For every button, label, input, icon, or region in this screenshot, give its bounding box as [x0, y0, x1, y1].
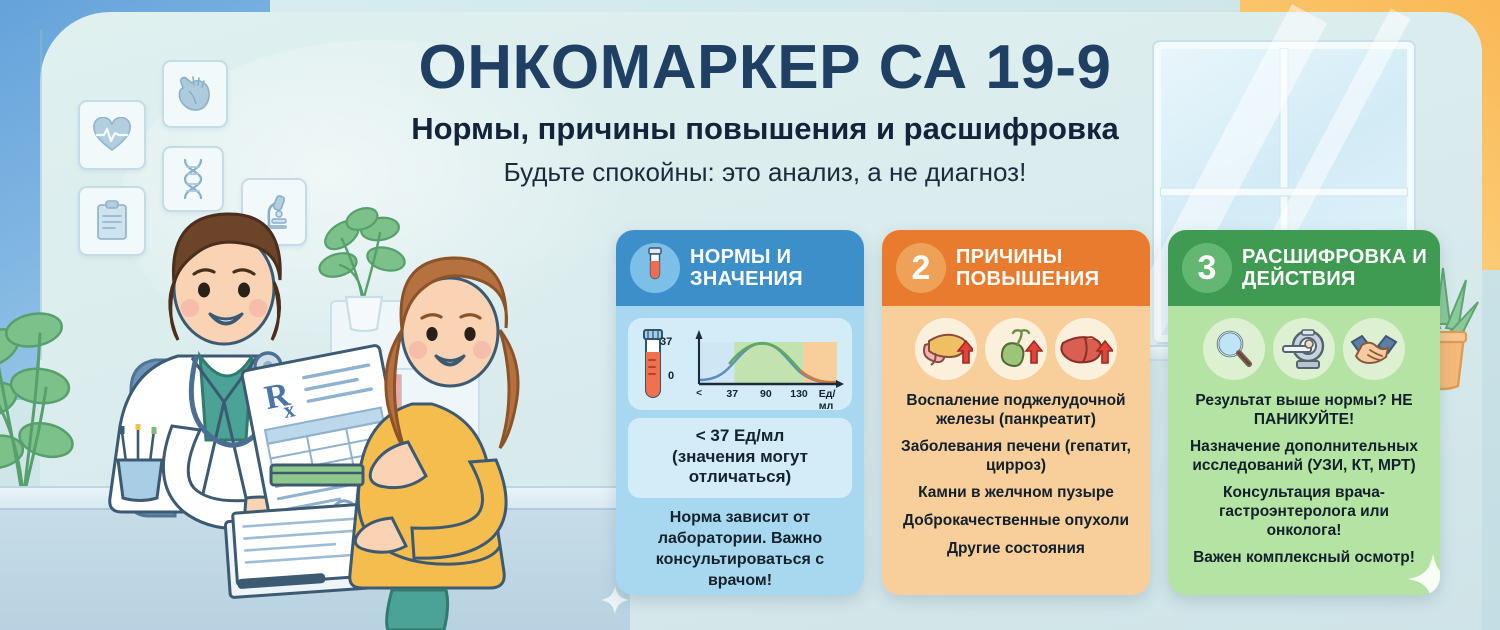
card-3-list: Результат выше нормы? НЕ ПАНИКУЙТЕ! Назн…: [1180, 392, 1428, 568]
chart-x-tick-130: 130: [790, 388, 808, 400]
test-tube-icon: [644, 247, 666, 290]
card-1-value-main: < 37 Ед/мл: [636, 426, 844, 447]
card-2-list: Воспаление поджелудочной железы (панкреа…: [894, 392, 1138, 558]
card-2-header: 2 ПРИЧИНЫ ПОВЫШЕНИЯ: [882, 230, 1150, 306]
chart-y-tick-37: 37: [660, 336, 672, 348]
norm-range-chart: 37 0 < 37 90 130 Ед/мл: [676, 328, 844, 402]
magnifier-icon: [1203, 318, 1265, 380]
card-2-title: ПРИЧИНЫ ПОВЫШЕНИЯ: [956, 246, 1138, 291]
pancreas-icon: [915, 318, 977, 380]
heartbeat-heart-icon: [92, 117, 132, 153]
ct-scanner-icon: [1273, 318, 1335, 380]
card-1-title: НОРМЫ И ЗНАЧЕНИЯ: [690, 246, 852, 291]
page-note: Будьте спокойны: это анализ, а не диагно…: [330, 157, 1200, 188]
chart-x-tick-90: 90: [760, 388, 772, 400]
page-title: ОНКОМАРКЕР СА 19-9: [330, 36, 1200, 99]
header-block: ОНКОМАРКЕР СА 19-9 Нормы, причины повыше…: [330, 36, 1200, 188]
card-1-header: НОРМЫ И ЗНАЧЕНИЯ: [616, 230, 864, 306]
liver-icon: [1055, 318, 1117, 380]
card-3-icon-row: [1180, 318, 1428, 380]
card-3-header: 3 РАСШИФРОВКА И ДЕЙСТВИЯ: [1168, 230, 1440, 306]
list-item: Камни в желчном пузыре: [894, 484, 1138, 503]
handshake-icon: [1343, 318, 1405, 380]
chart-x-tick-37: 37: [726, 388, 738, 400]
chart-x-unit: Ед/мл: [819, 388, 844, 412]
card-normy-i-znacheniya[interactable]: НОРМЫ И ЗНАЧЕНИЯ: [616, 230, 864, 595]
card-prichiny-povysheniya[interactable]: 2 ПРИЧИНЫ ПОВЫШЕНИЯ: [882, 230, 1150, 595]
card-1-badge: [630, 243, 680, 293]
gallbladder-icon: [985, 318, 1047, 380]
card-2-icon-row: [894, 318, 1138, 380]
anatomical-heart-icon: [175, 73, 215, 115]
page-subtitle: Нормы, причины повышения и расшифровка: [330, 111, 1200, 147]
card-rasshifrovka-i-deystviya[interactable]: 3 РАСШИФРОВКА И ДЕЙСТВИЯ: [1168, 230, 1440, 595]
pen-cup: [108, 418, 168, 496]
people-illustration: R x: [60, 160, 640, 630]
list-item: Заболевания печени (гепатит, цирроз): [894, 438, 1138, 475]
card-2-badge: 2: [896, 243, 946, 293]
green-book: [268, 459, 362, 485]
card-3-title: РАСШИФРОВКА И ДЕЙСТВИЯ: [1242, 246, 1428, 291]
card-1-body: 37 0 < 37 90 130 Ед/мл < 37 Ед/мл (значе…: [616, 306, 864, 595]
card-1-value-sub: (значения могут отличаться): [636, 447, 844, 488]
card-3-badge: 3: [1182, 243, 1232, 293]
card-3-body: Результат выше нормы? НЕ ПАНИКУЙТЕ! Назн…: [1168, 306, 1440, 595]
list-item: Воспаление поджелудочной железы (панкреа…: [894, 392, 1138, 429]
list-item: Консультация врача-гастроэнтеролога или …: [1180, 484, 1428, 540]
infographic-root: R x: [0, 0, 1500, 630]
chart-y-tick-0: 0: [668, 370, 674, 382]
list-item: Назначение дополнительных исследований (…: [1180, 438, 1428, 475]
list-item: Другие состояния: [894, 540, 1138, 559]
card-1-value-chip: < 37 Ед/мл (значения могут отличаться): [628, 418, 852, 498]
poster-frame-anatomical-heart: [162, 60, 228, 128]
list-item: Доброкачественные опухоли: [894, 512, 1138, 531]
card-1-note: Норма зависит от лаборатории. Важно конс…: [628, 506, 852, 593]
list-item: Важен комплексный осмотр!: [1180, 549, 1428, 568]
cards-container: НОРМЫ И ЗНАЧЕНИЯ: [616, 230, 1476, 595]
chart-x-tick-lt: <: [696, 388, 702, 399]
card-2-body: Воспаление поджелудочной железы (панкреа…: [882, 306, 1150, 595]
chart-panel: 37 0 < 37 90 130 Ед/мл: [628, 318, 852, 410]
list-item: Результат выше нормы? НЕ ПАНИКУЙТЕ!: [1180, 392, 1428, 429]
